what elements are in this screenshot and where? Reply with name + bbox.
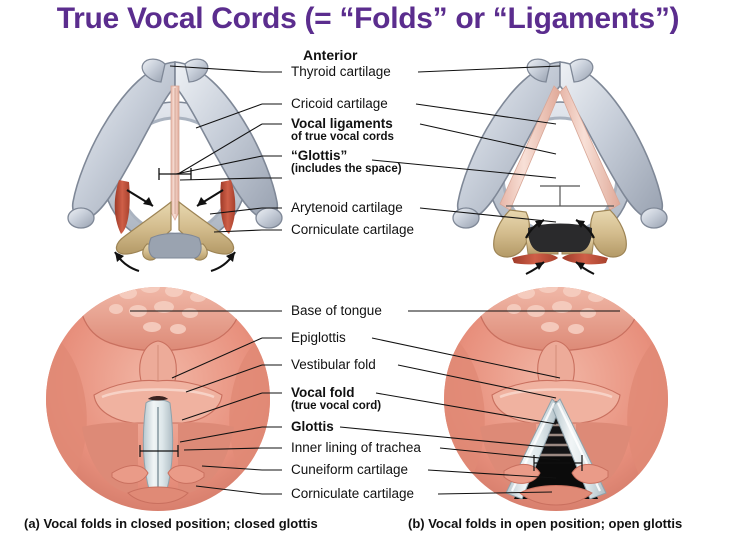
- label-arytenoid-cartilage: Arytenoid cartilage: [291, 201, 403, 215]
- label-vocal-ligaments-text: Vocal ligaments: [291, 116, 393, 131]
- label-glottis-upper-text: “Glottis”: [291, 148, 347, 163]
- label-cuneiform-cartilage: Cuneiform cartilage: [291, 463, 408, 477]
- label-corniculate-cartilage-lower: Corniculate cartilage: [291, 487, 414, 501]
- label-inner-lining-trachea: Inner lining of trachea: [291, 441, 421, 455]
- label-vocal-fold-text: Vocal fold: [291, 385, 355, 400]
- label-vocal-ligaments: Vocal ligaments of true vocal cords: [291, 117, 394, 144]
- leader-lines: [0, 0, 736, 540]
- label-corniculate-cartilage-upper: Corniculate cartilage: [291, 223, 414, 237]
- label-vocal-fold: Vocal fold (true vocal cord): [291, 386, 381, 413]
- label-glottis-upper-sub: (includes the space): [291, 164, 402, 176]
- label-vestibular-fold: Vestibular fold: [291, 358, 376, 372]
- label-glottis-lower: Glottis: [291, 420, 334, 434]
- label-thyroid-cartilage: Thyroid cartilage: [291, 65, 391, 79]
- label-vocal-fold-sub: (true vocal cord): [291, 401, 381, 413]
- label-vocal-ligaments-sub: of true vocal cords: [291, 132, 394, 144]
- label-base-of-tongue: Base of tongue: [291, 304, 382, 318]
- caption-a: (a) Vocal folds in closed position; clos…: [24, 516, 318, 531]
- caption-b: (b) Vocal folds in open position; open g…: [408, 516, 682, 531]
- label-glottis-upper: “Glottis” (includes the space): [291, 149, 402, 176]
- label-cricoid-cartilage: Cricoid cartilage: [291, 97, 388, 111]
- label-epiglottis: Epiglottis: [291, 331, 346, 345]
